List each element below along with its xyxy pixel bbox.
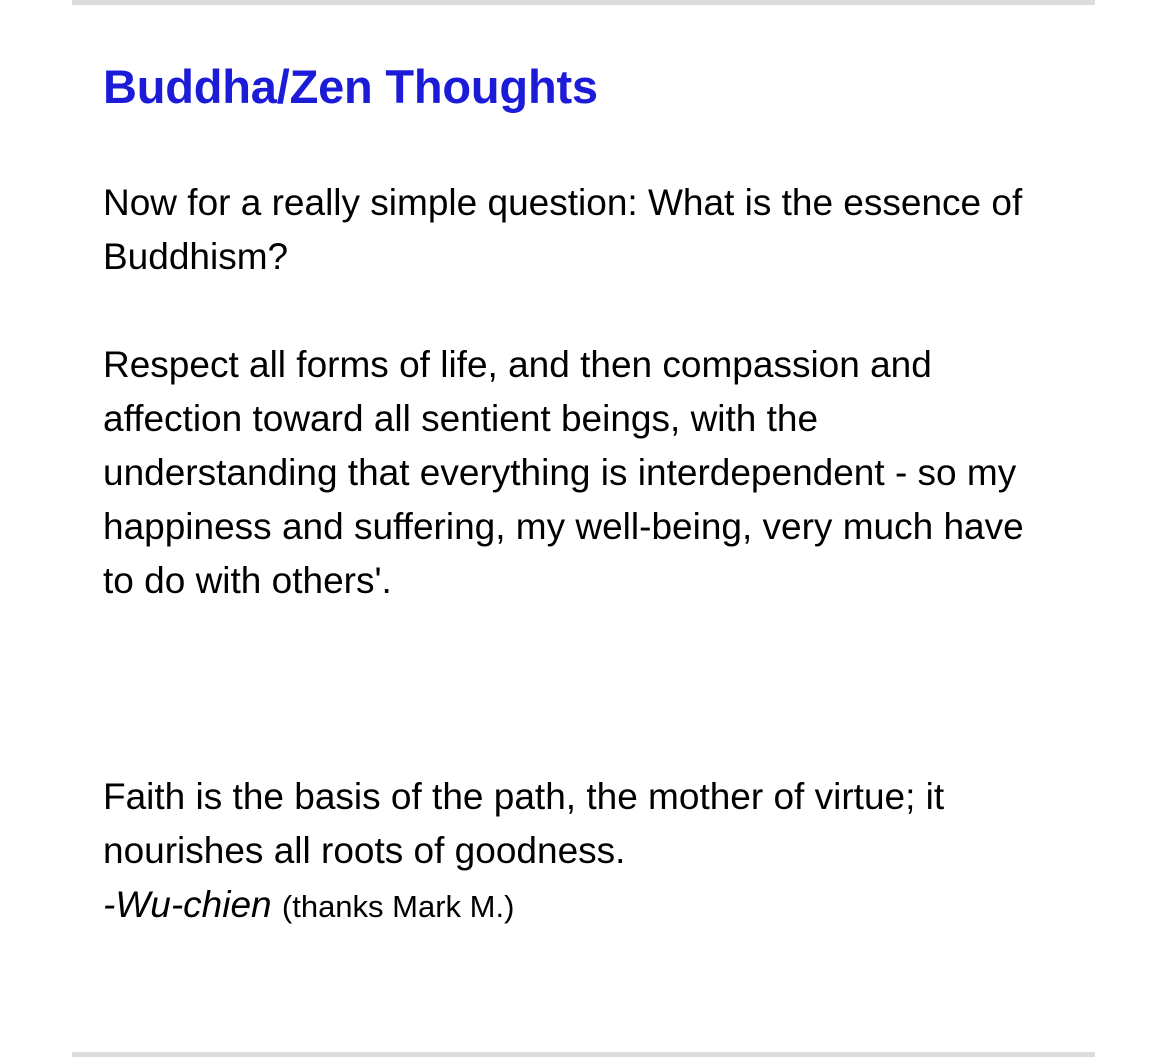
- attribution-credit: (thanks Mark M.): [282, 889, 515, 924]
- top-divider-rule: [72, 0, 1095, 5]
- paragraph-faith: Faith is the basis of the path, the moth…: [103, 770, 1033, 878]
- document-content: Buddha/Zen Thoughts Now for a really sim…: [103, 60, 1058, 934]
- bottom-divider-rule: [72, 1052, 1095, 1057]
- paragraph-essence: Respect all forms of life, and then comp…: [103, 338, 1048, 608]
- page-title: Buddha/Zen Thoughts: [103, 60, 1058, 114]
- attribution: -Wu-chien (thanks Mark M.): [103, 878, 1058, 934]
- attribution-author: -Wu-chien: [103, 884, 272, 925]
- document-page: Buddha/Zen Thoughts Now for a really sim…: [0, 0, 1170, 1062]
- paragraph-question: Now for a really simple question: What i…: [103, 176, 1053, 284]
